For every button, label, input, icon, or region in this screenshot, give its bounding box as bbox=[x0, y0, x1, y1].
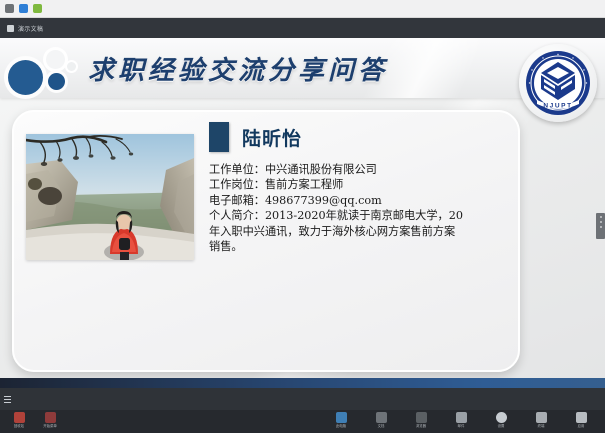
decorative-circles bbox=[4, 48, 82, 98]
browser-icon bbox=[416, 412, 427, 423]
menu-icon[interactable] bbox=[4, 396, 11, 403]
dock-item-label: 开始菜单 bbox=[43, 424, 57, 428]
dock-right-group: 此电脑 文档 浏览器 邮件 设置 终端 应用 工具 bbox=[330, 412, 605, 428]
circle-tiny-icon bbox=[67, 62, 76, 71]
dock-item-mail[interactable]: 邮件 bbox=[450, 412, 472, 428]
app-title: 演示文稿 bbox=[18, 24, 43, 33]
circle-medium-icon bbox=[46, 50, 65, 69]
slide-title: 求职经验交流分享问答 bbox=[88, 50, 388, 87]
start-menu-icon bbox=[45, 412, 56, 423]
app-header-bar: 演示文稿 bbox=[0, 18, 605, 38]
detail-line-bio-3: 销售。 bbox=[209, 239, 502, 254]
detail-line-bio-1: 个人简介：2013-2020年就读于南京邮电大学，20 bbox=[209, 208, 502, 223]
computer-icon bbox=[336, 412, 347, 423]
dock-left-group: 回收站 开始菜单 bbox=[8, 412, 61, 428]
profile-name: 陆昕怡 bbox=[242, 124, 302, 151]
dock-item-computer[interactable]: 此电脑 bbox=[330, 412, 352, 428]
name-accent-bar bbox=[209, 122, 229, 152]
signal-icon[interactable] bbox=[33, 4, 42, 13]
photo-image bbox=[26, 134, 194, 260]
detail-line-email: 电子邮箱：498677399@qq.com bbox=[209, 193, 502, 208]
dock-item-start-menu[interactable]: 开始菜单 bbox=[39, 412, 61, 428]
dock-item-label: 应用 bbox=[578, 424, 585, 428]
extension-icon[interactable] bbox=[5, 4, 14, 13]
profile-name-row: 陆昕怡 bbox=[209, 122, 302, 152]
dock-item-recycle-bin[interactable]: 回收站 bbox=[8, 412, 30, 428]
dock-item-terminal[interactable]: 终端 bbox=[530, 412, 552, 428]
accent-bar bbox=[0, 378, 605, 388]
terminal-icon bbox=[536, 412, 547, 423]
desktop-dock: 回收站 开始菜单 此电脑 文档 浏览器 邮件 设置 终端 bbox=[0, 410, 605, 433]
dock-item-label: 终端 bbox=[538, 424, 545, 428]
circle-large-icon bbox=[8, 60, 43, 95]
dock-item-label: 此电脑 bbox=[336, 424, 346, 428]
slide-stage: 求职经验交流分享问答 NJUPT bbox=[0, 38, 605, 378]
dock-item-label: 设置 bbox=[498, 424, 505, 428]
profile-photo bbox=[26, 134, 194, 260]
dock-item-label: 邮件 bbox=[458, 424, 465, 428]
crest-acronym: NJUPT bbox=[543, 103, 572, 110]
dock-item-settings[interactable]: 设置 bbox=[490, 412, 512, 428]
taskbar bbox=[0, 388, 605, 410]
recycle-bin-icon bbox=[14, 412, 25, 423]
njupt-logo: NJUPT bbox=[519, 44, 597, 122]
folder-icon bbox=[376, 412, 387, 423]
scroll-grip-dot bbox=[600, 221, 602, 223]
mail-icon bbox=[456, 412, 467, 423]
detail-line-company: 工作单位：中兴通讯股份有限公司 bbox=[209, 162, 502, 177]
document-icon bbox=[7, 25, 14, 32]
browser-top-strip bbox=[0, 0, 605, 18]
dock-item-label: 文档 bbox=[378, 424, 385, 428]
detail-line-position: 工作岗位：售前方案工程师 bbox=[209, 177, 502, 192]
scroll-grip-dot bbox=[600, 226, 602, 228]
profile-card: 陆昕怡 工作单位：中兴通讯股份有限公司 工作岗位：售前方案工程师 电子邮箱：49… bbox=[12, 110, 520, 372]
profile-details: 工作单位：中兴通讯股份有限公司 工作岗位：售前方案工程师 电子邮箱：498677… bbox=[209, 162, 502, 254]
scroll-grip-dot bbox=[600, 216, 602, 218]
gear-icon bbox=[496, 412, 507, 423]
circle-small-icon bbox=[48, 73, 65, 90]
apps-grid-icon bbox=[576, 412, 587, 423]
vertical-scroll-handle[interactable] bbox=[596, 213, 605, 239]
dock-item-label: 浏览器 bbox=[416, 424, 426, 428]
dock-item-browser[interactable]: 浏览器 bbox=[410, 412, 432, 428]
bluetooth-icon[interactable] bbox=[19, 4, 28, 13]
crest-emblem-icon: NJUPT bbox=[523, 48, 593, 118]
dock-item-apps[interactable]: 应用 bbox=[570, 412, 592, 428]
dock-item-label: 回收站 bbox=[14, 424, 24, 428]
dock-item-documents[interactable]: 文档 bbox=[370, 412, 392, 428]
detail-line-bio-2: 年入职中兴通讯，致力于海外核心网方案售前方案 bbox=[209, 224, 502, 239]
